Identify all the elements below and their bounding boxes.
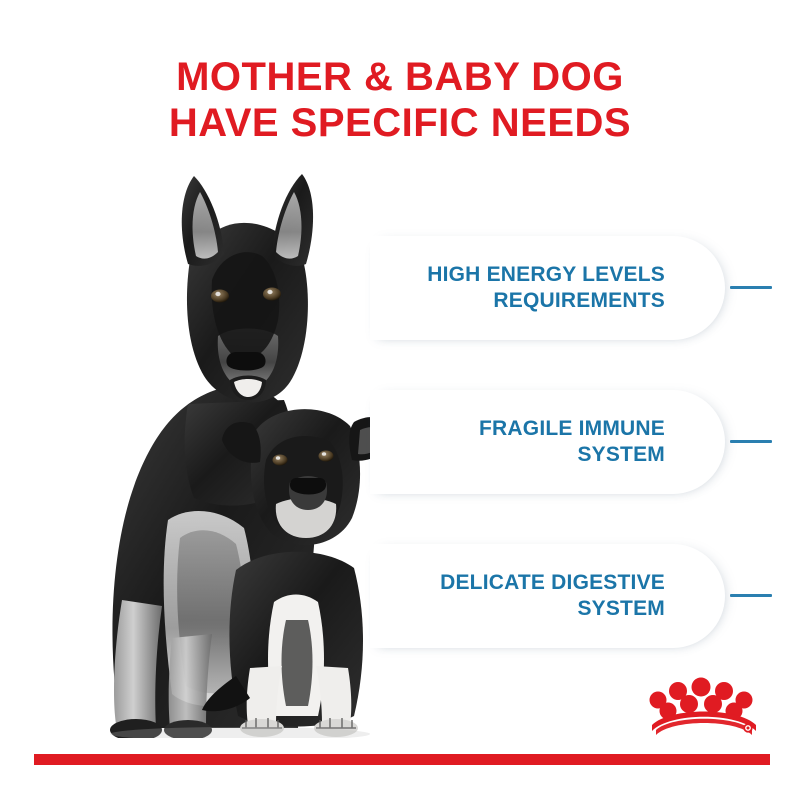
royal-canin-crown-icon [646,676,762,738]
page-title: MOTHER & BABY DOG HAVE SPECIFIC NEEDS [0,54,800,146]
mother-and-puppy-photo [60,168,420,738]
poster-canvas: MOTHER & BABY DOG HAVE SPECIFIC NEEDS [0,0,800,800]
feature-card: DELICATE DIGESTIVE SYSTEM [370,544,725,648]
feature-item-fragile-immune[interactable]: FRAGILE IMMUNE SYSTEM [430,390,780,494]
feature-card: FRAGILE IMMUNE SYSTEM [370,390,725,494]
feature-list: HIGH ENERGY LEVELS REQUIREMENTS FRAGILE … [430,228,780,658]
headline-line-1: MOTHER & BABY DOG [0,54,800,100]
feature-item-high-energy[interactable]: HIGH ENERGY LEVELS REQUIREMENTS [430,236,780,340]
bottom-accent-bar [34,754,770,765]
dash-line-icon [730,286,772,289]
feature-item-delicate-digestive[interactable]: DELICATE DIGESTIVE SYSTEM [430,544,780,648]
feature-card: HIGH ENERGY LEVELS REQUIREMENTS [370,236,725,340]
feature-label: HIGH ENERGY LEVELS REQUIREMENTS [427,262,665,314]
feature-label: DELICATE DIGESTIVE SYSTEM [440,570,665,622]
dash-line-icon [730,594,772,597]
dash-line-icon [730,440,772,443]
headline-line-2: HAVE SPECIFIC NEEDS [0,100,800,146]
feature-label: FRAGILE IMMUNE SYSTEM [479,416,665,468]
registered-trademark-icon [743,723,752,732]
